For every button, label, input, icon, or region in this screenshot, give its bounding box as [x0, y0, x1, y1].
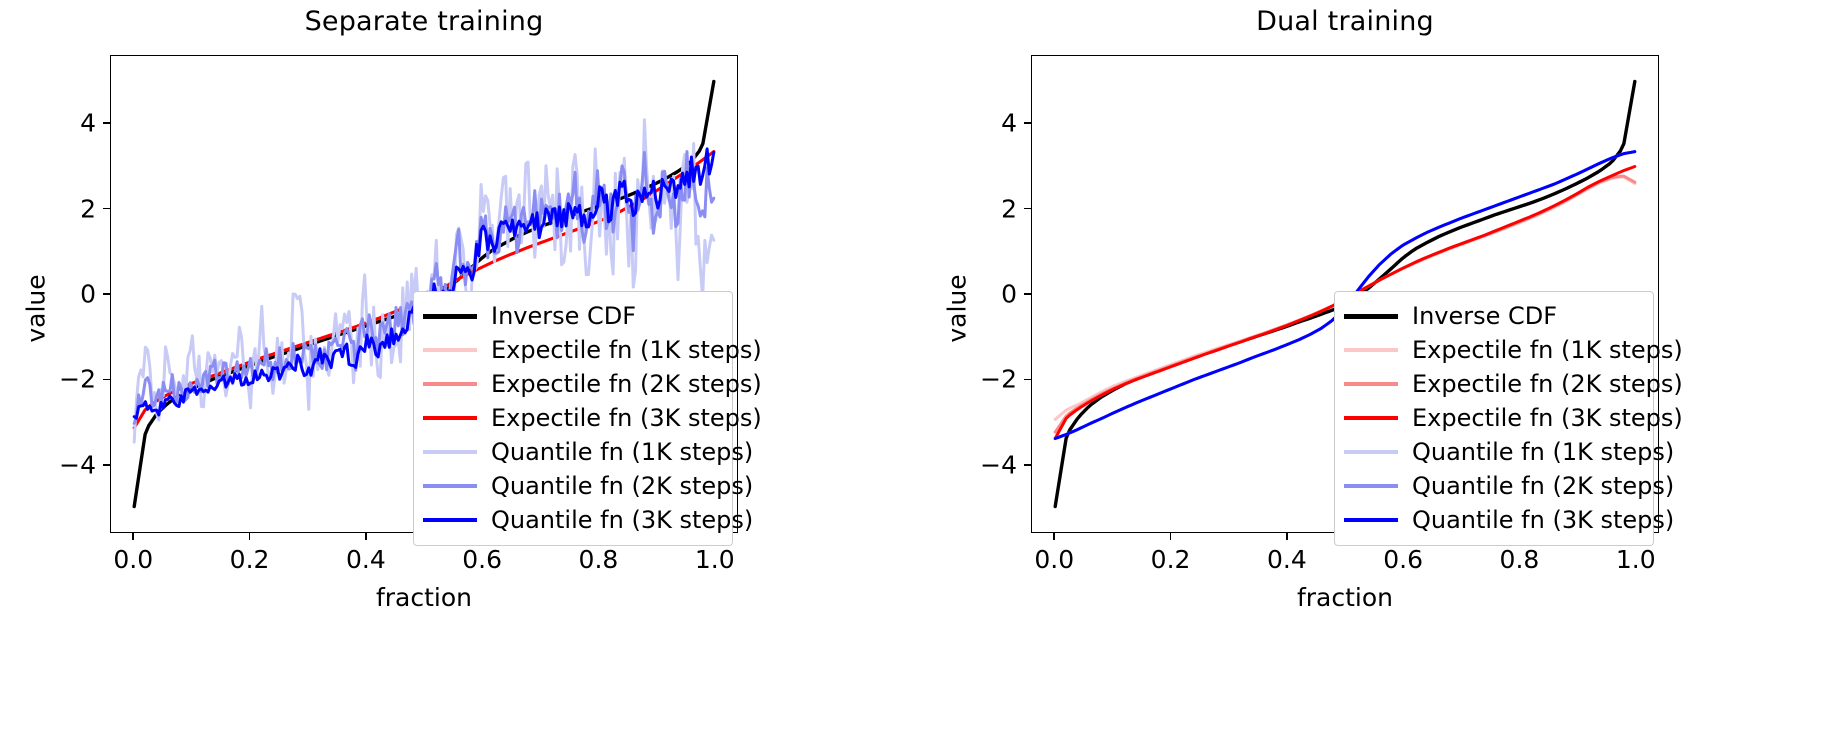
- x-tick-label: 0.2: [1151, 545, 1191, 574]
- legend-item: Quantile fn (1K steps): [423, 435, 723, 469]
- panel-separate-training: Separate training 420−2−4 0.00.20.40.60.…: [0, 0, 921, 729]
- legend-line-icon: [1344, 382, 1398, 386]
- y-tick-label: 4: [32, 109, 96, 138]
- legend-item-label: Quantile fn (2K steps): [491, 474, 753, 498]
- legend-item-label: Expectile fn (2K steps): [1412, 372, 1683, 396]
- y-tick-mark: [1024, 379, 1031, 381]
- x-tick-label: 0.4: [1267, 545, 1307, 574]
- legend-item-label: Quantile fn (1K steps): [1412, 440, 1674, 464]
- legend-line-icon: [423, 450, 477, 454]
- legend-line-icon: [1344, 348, 1398, 352]
- legend-item: Inverse CDF: [1344, 299, 1644, 333]
- page-title: Separate training: [110, 6, 738, 37]
- legend-line-icon: [1344, 484, 1398, 488]
- figure: Separate training 420−2−4 0.00.20.40.60.…: [0, 0, 1842, 729]
- legend-line-icon: [423, 382, 477, 386]
- legend-item: Quantile fn (3K steps): [1344, 503, 1644, 537]
- legend-item: Expectile fn (1K steps): [423, 333, 723, 367]
- x-tick-mark: [1170, 533, 1172, 540]
- y-tick-mark: [103, 379, 110, 381]
- legend-item: Quantile fn (2K steps): [423, 469, 723, 503]
- y-tick-mark: [1024, 464, 1031, 466]
- y-tick-label: 2: [32, 194, 96, 223]
- legend: Inverse CDFExpectile fn (1K steps)Expect…: [413, 291, 733, 546]
- x-tick-label: 1.0: [695, 545, 735, 574]
- x-axis-label: fraction: [1031, 583, 1659, 612]
- legend-line-icon: [1344, 518, 1398, 522]
- legend-item: Expectile fn (2K steps): [1344, 367, 1644, 401]
- legend: Inverse CDFExpectile fn (1K steps)Expect…: [1334, 291, 1654, 546]
- panel-dual-training: Dual training 420−2−4 0.00.20.40.60.81.0…: [921, 0, 1842, 729]
- legend-item: Quantile fn (2K steps): [1344, 469, 1644, 503]
- legend-item: Inverse CDF: [423, 299, 723, 333]
- x-tick-mark: [1053, 533, 1055, 540]
- x-tick-label: 0.0: [113, 545, 153, 574]
- legend-item-label: Expectile fn (1K steps): [1412, 338, 1683, 362]
- legend-item-label: Quantile fn (1K steps): [491, 440, 753, 464]
- legend-line-icon: [423, 416, 477, 420]
- y-tick-label: −4: [32, 450, 96, 479]
- x-tick-label: 0.0: [1034, 545, 1074, 574]
- legend-line-icon: [1344, 450, 1398, 454]
- x-tick-label: 0.6: [462, 545, 502, 574]
- legend-item-label: Expectile fn (3K steps): [491, 406, 762, 430]
- legend-item-label: Quantile fn (3K steps): [491, 508, 753, 532]
- legend-line-icon: [423, 348, 477, 352]
- legend-item: Expectile fn (2K steps): [423, 367, 723, 401]
- legend-line-icon: [1344, 416, 1398, 420]
- y-axis-label: value: [943, 229, 972, 389]
- legend-item-label: Quantile fn (2K steps): [1412, 474, 1674, 498]
- x-tick-label: 0.8: [1500, 545, 1540, 574]
- y-tick-mark: [1024, 208, 1031, 210]
- y-tick-label: 4: [953, 109, 1017, 138]
- x-tick-mark: [1286, 533, 1288, 540]
- y-tick-label: −4: [953, 450, 1017, 479]
- legend-item: Quantile fn (3K steps): [423, 503, 723, 537]
- y-tick-mark: [103, 208, 110, 210]
- page-title: Dual training: [1031, 6, 1659, 37]
- legend-item: Expectile fn (1K steps): [1344, 333, 1644, 367]
- x-tick-label: 0.2: [230, 545, 270, 574]
- y-tick-mark: [103, 122, 110, 124]
- y-axis-label: value: [22, 229, 51, 389]
- legend-line-icon: [423, 314, 477, 319]
- legend-item-label: Quantile fn (3K steps): [1412, 508, 1674, 532]
- x-axis-label: fraction: [110, 583, 738, 612]
- legend-item: Expectile fn (3K steps): [1344, 401, 1644, 435]
- y-tick-mark: [1024, 293, 1031, 295]
- y-tick-label: 2: [953, 194, 1017, 223]
- legend-line-icon: [1344, 314, 1398, 319]
- x-tick-mark: [365, 533, 367, 540]
- y-tick-mark: [103, 464, 110, 466]
- legend-item-label: Expectile fn (1K steps): [491, 338, 762, 362]
- x-tick-label: 0.6: [1383, 545, 1423, 574]
- x-tick-label: 0.8: [579, 545, 619, 574]
- legend-item: Quantile fn (1K steps): [1344, 435, 1644, 469]
- legend-item-label: Expectile fn (3K steps): [1412, 406, 1683, 430]
- legend-item: Expectile fn (3K steps): [423, 401, 723, 435]
- y-tick-mark: [103, 293, 110, 295]
- y-tick-mark: [1024, 122, 1031, 124]
- x-tick-label: 0.4: [346, 545, 386, 574]
- legend-item-label: Inverse CDF: [1412, 304, 1557, 328]
- legend-item-label: Expectile fn (2K steps): [491, 372, 762, 396]
- legend-line-icon: [423, 518, 477, 522]
- legend-item-label: Inverse CDF: [491, 304, 636, 328]
- legend-line-icon: [423, 484, 477, 488]
- x-tick-label: 1.0: [1616, 545, 1656, 574]
- x-tick-mark: [132, 533, 134, 540]
- x-tick-mark: [249, 533, 251, 540]
